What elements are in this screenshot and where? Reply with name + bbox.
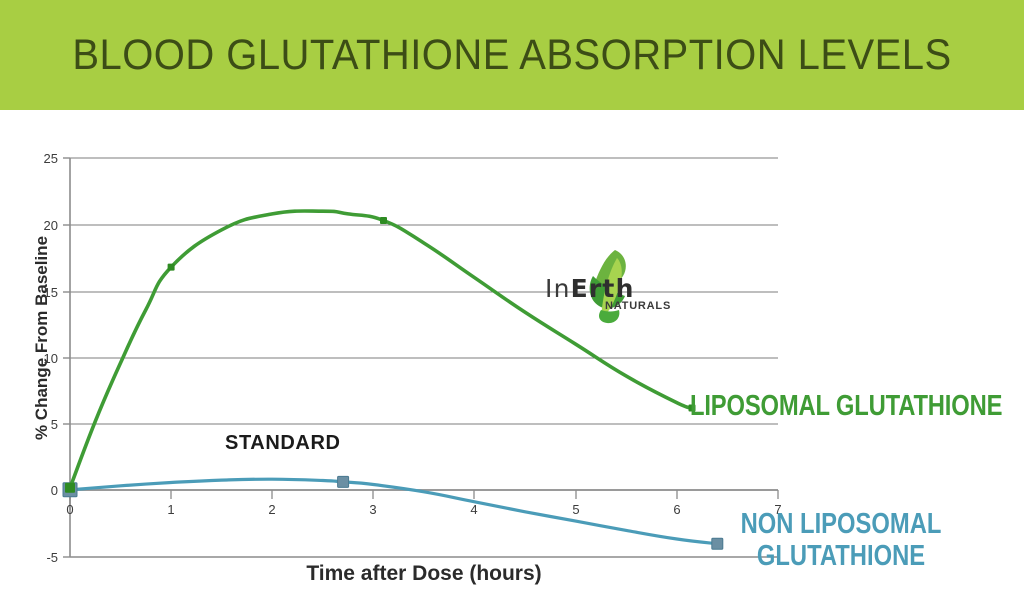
x-tick-label-5: 5 [561,502,591,517]
page-title: BLOOD GLUTATHIONE ABSORPTION LEVELS [36,0,988,110]
legend-label-non-liposomal-line1: NON LIPOSOMAL [718,508,964,540]
chart-page: BLOOD GLUTATHIONE ABSORPTION LEVELS [0,0,1024,598]
x-tick-label-0: 0 [55,502,85,517]
header-banner: BLOOD GLUTATHIONE ABSORPTION LEVELS [0,0,1024,110]
x-axis-title: Time after Dose (hours) [70,562,778,586]
y-tick-label-25: 25 [22,151,58,166]
gridlines [70,158,778,424]
x-tick-label-4: 4 [459,502,489,517]
y-tick-label-0: 0 [22,483,58,498]
y-tick-label-neg5: -5 [22,550,58,565]
marker-liposomal-1 [168,264,175,271]
legend-label-non-liposomal: NON LIPOSOMAL GLUTATHIONE [718,508,964,573]
marker-non-liposomal-1 [338,476,349,487]
marker-liposomal-0 [65,483,75,493]
logo-wordmark: InErth [545,274,635,303]
y-tick-label-5: 5 [22,417,58,432]
standard-annotation: STANDARD [225,432,341,455]
y-tick-label-15: 15 [22,285,58,300]
y-tick-label-20: 20 [22,218,58,233]
y-tick-label-10: 10 [22,351,58,366]
logo-word-erth: Erth [571,274,635,303]
marker-liposomal-2 [380,217,387,224]
brand-logo: InErth NATURALS [545,248,665,326]
logo-subtitle: NATURALS [605,300,671,312]
legend-label-non-liposomal-line2: GLUTATHIONE [718,540,964,572]
x-tick-label-6: 6 [662,502,692,517]
chart-container: % Change From Baseline Time after Dose (… [0,110,1024,598]
legend-label-liposomal: LIPOSOMAL GLUTATHIONE [690,390,1002,423]
x-tick-label-2: 2 [257,502,287,517]
logo-word-in: In [545,274,571,303]
x-tick-label-3: 3 [358,502,388,517]
x-tick-label-1: 1 [156,502,186,517]
